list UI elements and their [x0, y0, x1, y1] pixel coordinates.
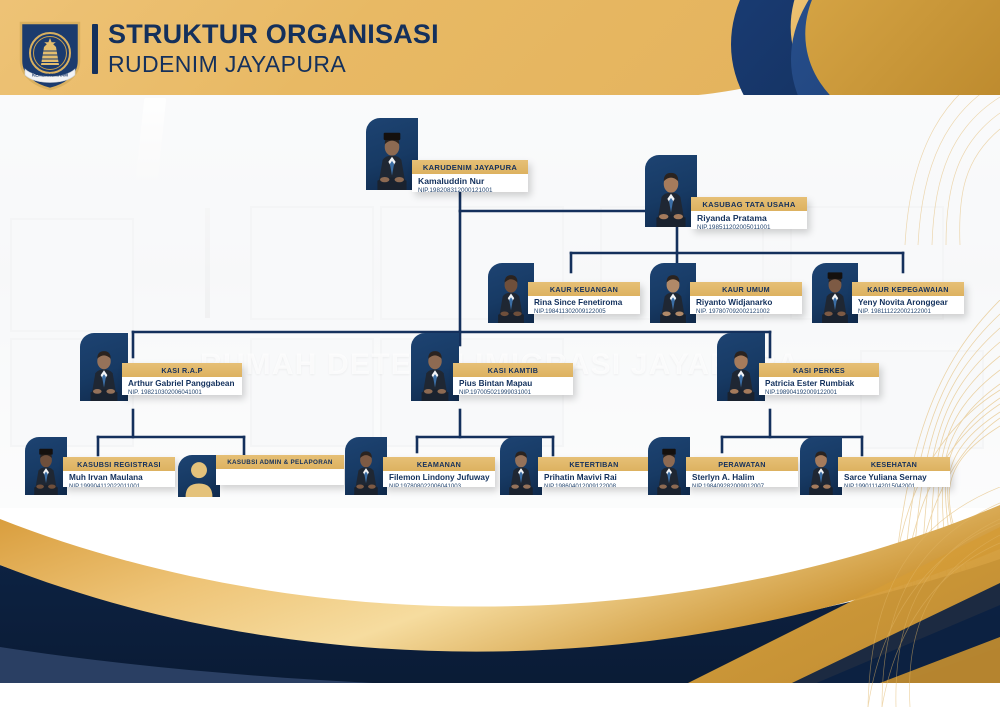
info-panel-kasubsi-registrasi: KASUBSI REGISTRASI Muh Irvan Maulana NIP… [63, 457, 175, 487]
person-nip-kasi-kamtib: NIP.197005021999031001 [459, 389, 573, 395]
person-name-kasubag: Riyanda Pratama [697, 213, 807, 224]
org-node-keamanan[interactable]: KEAMANAN Filemon Lindony Jufuway NIP.197… [345, 437, 495, 493]
page-header: KEMENKUMHAM STRUKTUR ORGANISASI RUDENIM … [0, 0, 1000, 95]
role-title-perawatan: PERAWATAN [686, 457, 798, 471]
portrait-photo-kasubag [645, 155, 697, 227]
person-nip-kaur-umum: NIP. 197807092002121002 [696, 308, 802, 314]
org-node-kaur-keuangan[interactable]: KAUR KEUANGAN Rina Since Fenetiroma NIP.… [488, 263, 640, 320]
info-panel-karudenim: KARUDENIM JAYAPURA Kamaluddin Nur NIP.19… [412, 160, 528, 192]
person-name-kasubsi-registrasi: Muh Irvan Maulana [69, 473, 175, 483]
role-title-kaur-kepegawaian: KAUR KEPEGAWAIAN [852, 282, 964, 296]
info-panel-ketertiban: KETERTIBAN Prihatin Mavivi Rai NIP.19860… [538, 457, 650, 487]
page-subtitle: RUDENIM JAYAPURA [108, 53, 346, 76]
person-nip-kaur-keuangan: NIP.198411302009122005 [534, 308, 640, 314]
org-node-kaur-umum[interactable]: KAUR UMUM Riyanto Widjanarko NIP. 197807… [650, 263, 802, 320]
kemenkumham-shield-logo: KEMENKUMHAM [17, 19, 83, 91]
info-panel-kasi-perkes: KASI PERKES Patricia Ester Rumbiak NIP.1… [759, 363, 879, 395]
portrait-photo-karudenim [366, 118, 418, 190]
person-name-karudenim: Kamaluddin Nur [418, 176, 528, 187]
info-panel-keamanan: KEAMANAN Filemon Lindony Jufuway NIP.197… [383, 457, 495, 487]
info-panel-kasubag: KASUBAG TATA USAHA Riyanda Pratama NIP.1… [691, 197, 807, 229]
info-panel-kasi-kamtib: KASI KAMTIB Pius Bintan Mapau NIP.197005… [453, 363, 573, 395]
info-panel-kesehatan: KESEHATAN Sarce Yuliana Sernay NIP.19901… [838, 457, 950, 487]
portrait-photo-kasi-rap [80, 333, 128, 401]
person-name-kasi-rap: Arthur Gabriel Panggabean [128, 379, 242, 389]
svg-text:KEMENKUMHAM: KEMENKUMHAM [32, 73, 68, 78]
person-name-perawatan: Sterlyn A. Halim [692, 473, 798, 483]
person-name-kaur-keuangan: Rina Since Fenetiroma [534, 298, 640, 308]
portrait-photo-kasi-kamtib [411, 333, 459, 401]
person-nip-kasi-perkes: NIP.198904192009122001 [765, 389, 879, 395]
role-title-kaur-umum: KAUR UMUM [690, 282, 802, 296]
person-name-ketertiban: Prihatin Mavivi Rai [544, 473, 650, 483]
role-title-kasi-perkes: KASI PERKES [759, 363, 879, 377]
info-panel-kasi-rap: KASI R.A.P Arthur Gabriel Panggabean NIP… [122, 363, 242, 395]
role-title-kasubsi-registrasi: KASUBSI REGISTRASI [63, 457, 175, 471]
org-node-kasubsi-admin[interactable]: KASUBSI ADMIN & PELAPORAN [178, 455, 344, 491]
org-node-kasi-kamtib[interactable]: KASI KAMTIB Pius Bintan Mapau NIP.197005… [411, 333, 573, 401]
role-title-kasi-kamtib: KASI KAMTIB [453, 363, 573, 377]
person-name-kasi-perkes: Patricia Ester Rumbiak [765, 379, 879, 389]
org-node-kasubsi-registrasi[interactable]: KASUBSI REGISTRASI Muh Irvan Maulana NIP… [25, 437, 175, 493]
info-panel-kaur-keuangan: KAUR KEUANGAN Rina Since Fenetiroma NIP.… [528, 282, 640, 314]
info-panel-kaur-kepegawaian: KAUR KEPEGAWAIAN Yeny Novita Aronggear N… [852, 282, 964, 314]
footer-decoration [0, 487, 1000, 707]
person-name-kaur-umum: Riyanto Widjanarko [696, 298, 802, 308]
org-node-perawatan[interactable]: PERAWATAN Sterlyn A. Halim NIP.198409282… [648, 437, 798, 493]
org-chart-poster: RUMAH DETENSI IMIGRASI JAYAPURA [0, 0, 1000, 707]
role-title-kasubag: KASUBAG TATA USAHA [691, 197, 807, 211]
decorative-guilloche-bottom-right [0, 487, 1000, 707]
info-panel-perawatan: PERAWATAN Sterlyn A. Halim NIP.198409282… [686, 457, 798, 487]
person-name-kasi-kamtib: Pius Bintan Mapau [459, 379, 573, 389]
person-name-kesehatan: Sarce Yuliana Sernay [844, 473, 950, 483]
role-title-kasubsi-admin: KASUBSI ADMIN & PELAPORAN [216, 455, 344, 469]
title-divider-rule [92, 24, 98, 74]
org-node-karudenim[interactable]: KARUDENIM JAYAPURA Kamaluddin Nur NIP.19… [366, 118, 528, 198]
role-title-karudenim: KARUDENIM JAYAPURA [412, 160, 528, 174]
org-node-kasi-perkes[interactable]: KASI PERKES Patricia Ester Rumbiak NIP.1… [717, 333, 879, 401]
person-nip-karudenim: NIP.198208312000121001 [418, 187, 528, 192]
person-name-keamanan: Filemon Lindony Jufuway [389, 473, 495, 483]
person-nip-kasubag: NIP.198511202005011001 [697, 224, 807, 229]
org-node-kaur-kepegawaian[interactable]: KAUR KEPEGAWAIAN Yeny Novita Aronggear N… [812, 263, 964, 320]
role-title-keamanan: KEAMANAN [383, 457, 495, 471]
role-title-ketertiban: KETERTIBAN [538, 457, 650, 471]
org-node-kasubag[interactable]: KASUBAG TATA USAHA Riyanda Pratama NIP.1… [645, 155, 807, 235]
role-title-kaur-keuangan: KAUR KEUANGAN [528, 282, 640, 296]
info-panel-kasubsi-admin: KASUBSI ADMIN & PELAPORAN [216, 455, 344, 485]
info-panel-kaur-umum: KAUR UMUM Riyanto Widjanarko NIP. 197807… [690, 282, 802, 314]
org-node-kasi-rap[interactable]: KASI R.A.P Arthur Gabriel Panggabean NIP… [80, 333, 242, 401]
role-title-kasi-rap: KASI R.A.P [122, 363, 242, 377]
person-name-kaur-kepegawaian: Yeny Novita Aronggear [858, 298, 964, 308]
org-node-kesehatan[interactable]: KESEHATAN Sarce Yuliana Sernay NIP.19901… [800, 437, 950, 493]
org-node-ketertiban[interactable]: KETERTIBAN Prihatin Mavivi Rai NIP.19860… [500, 437, 650, 493]
person-nip-kasi-rap: NIP. 198210302006041001 [128, 389, 242, 395]
person-nip-kaur-kepegawaian: NIP. 198111222002122001 [858, 308, 964, 314]
role-title-kesehatan: KESEHATAN [838, 457, 950, 471]
portrait-photo-kasi-perkes [717, 333, 765, 401]
page-title: STRUKTUR ORGANISASI [108, 21, 439, 48]
